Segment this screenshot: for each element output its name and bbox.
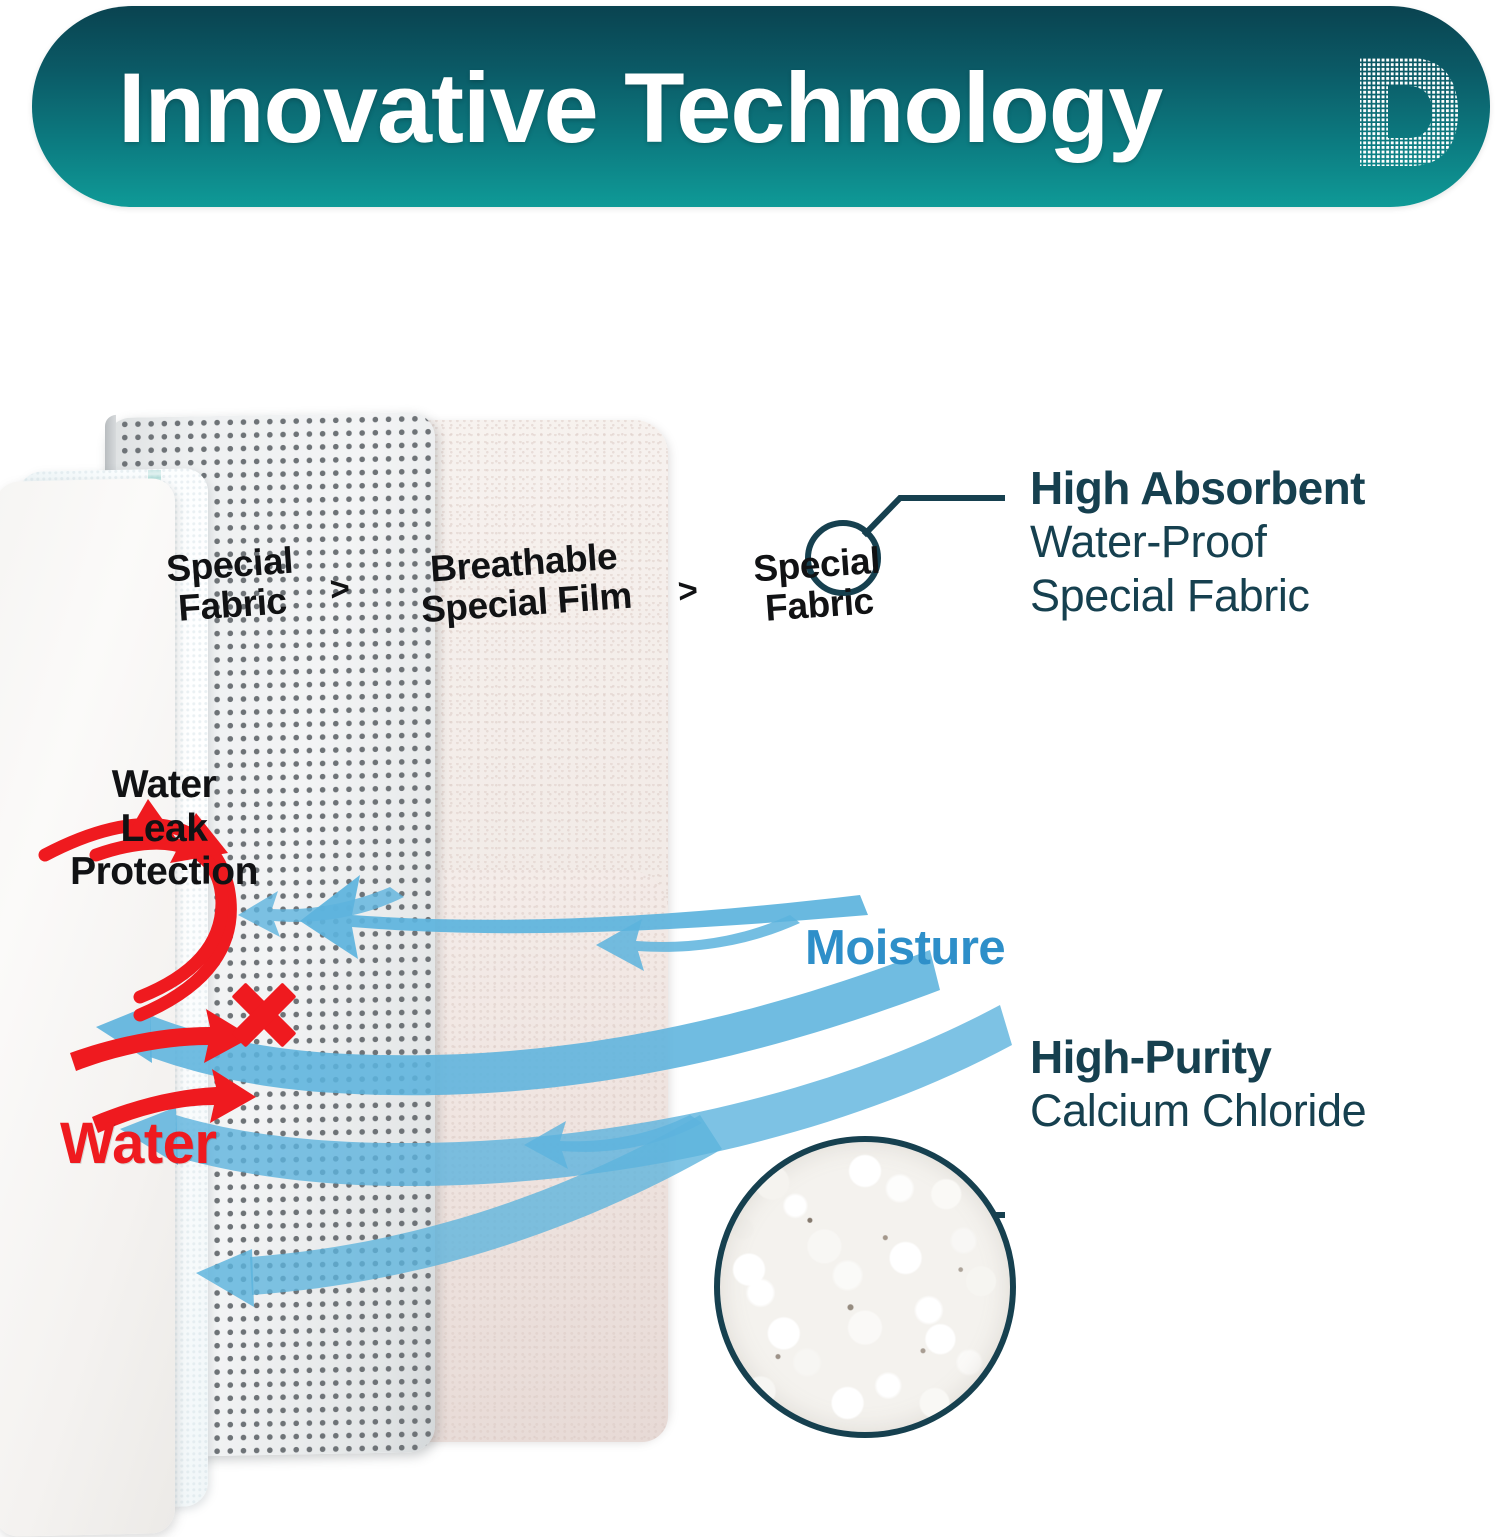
layered-structure-diagram: Special Fabric > Breathable Special Film… [0,215,1500,1456]
label-separator-2: > [677,571,700,611]
label-separator-1: > [329,569,352,609]
header-banner: Innovative Technology [32,6,1490,207]
label-moisture: Moisture [805,920,1005,976]
callout-high-purity-heading: High-Purity [1030,1032,1480,1084]
callout-high-absorbent-heading: High Absorbent [1030,463,1480,515]
layer-front-sheet [0,478,175,1537]
calcium-chloride-pellets-inset [714,1136,1016,1438]
page-title: Innovative Technology [118,42,1248,172]
label-special-fabric-right: Special Fabric [715,538,920,631]
callout-high-purity-body: Calcium Chloride [1030,1084,1480,1139]
callout-high-absorbent: High Absorbent Water-Proof Special Fabri… [1030,463,1480,624]
label-water: Water [60,1110,217,1177]
pellet-speck-layer [720,1142,1010,1432]
callout-high-purity: High-Purity Calcium Chloride [1030,1032,1480,1138]
callout-high-absorbent-body: Water-Proof Special Fabric [1030,515,1480,625]
label-water-leak-protection: Water Leak Protection [36,763,292,894]
label-special-fabric-left: Special Fabric [123,538,338,632]
dotted-letter-d-logo [1354,54,1464,170]
